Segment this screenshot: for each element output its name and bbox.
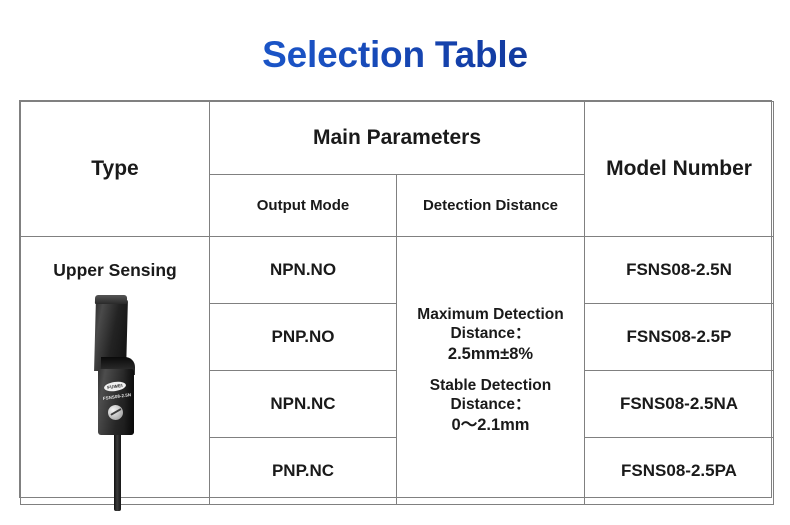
cell-model-number: FSNS08-2.5N (585, 237, 774, 304)
selection-table-container: Type Main Parameters Model Number Output… (19, 100, 772, 498)
cell-output-mode: NPN.NC (210, 371, 397, 438)
cell-model-number: FSNS08-2.5NA (585, 371, 774, 438)
header-detection-distance: Detection Distance (397, 175, 585, 237)
max-distance-label: Maximum Detection Distance： (397, 306, 584, 344)
page-title: Selection Table (0, 34, 790, 76)
type-cell-upper-sensing: Upper Sensing FUWEI (21, 237, 210, 505)
cell-model-number: FSNS08-2.5P (585, 304, 774, 371)
header-type: Type (21, 102, 210, 237)
table-header-row-main: Type Main Parameters Model Number (21, 102, 774, 175)
selection-table-page: Selection Table Type Main Parameters Mod… (0, 0, 790, 525)
sensor-cable (114, 425, 121, 511)
header-main-parameters: Main Parameters (210, 102, 585, 175)
table-row: Upper Sensing FUWEI (21, 237, 774, 304)
header-model-number: Model Number (585, 102, 774, 237)
cell-output-mode: NPN.NO (210, 237, 397, 304)
proximity-sensor-product-icon: FUWEI FSNS08-2.5N (71, 297, 191, 507)
header-output-mode: Output Mode (210, 175, 397, 237)
max-distance-value: 2.5mm±8% (397, 344, 584, 364)
type-label: Upper Sensing (21, 260, 209, 281)
stable-distance-value: 0〜2.1mm (397, 415, 584, 435)
cell-model-number: FSNS08-2.5PA (585, 438, 774, 505)
stable-distance-label: Stable Detection Distance： (397, 377, 584, 415)
sensor-rear-top (95, 295, 127, 304)
sensor-front-shading (124, 369, 134, 435)
selection-table: Type Main Parameters Model Number Output… (20, 101, 774, 505)
distance-spacer (397, 364, 584, 377)
cell-detection-distance: Maximum Detection Distance： 2.5mm±8% Sta… (397, 237, 585, 505)
cell-output-mode: PNP.NO (210, 304, 397, 371)
cell-output-mode: PNP.NC (210, 438, 397, 505)
